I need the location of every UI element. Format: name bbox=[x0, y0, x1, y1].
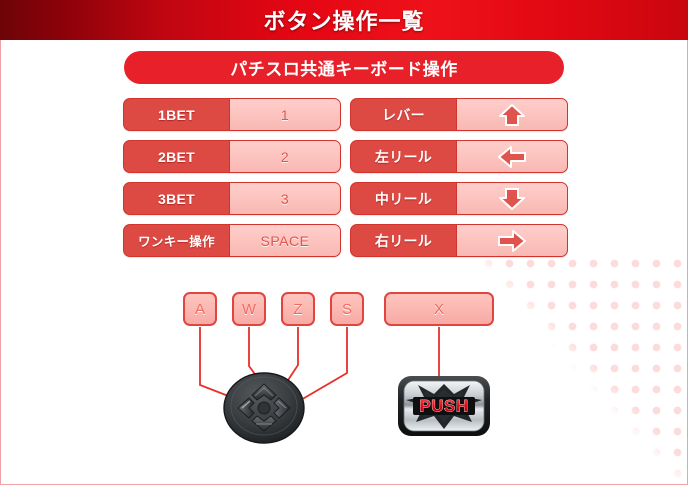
row-value bbox=[456, 225, 567, 256]
arrow-down-icon bbox=[497, 187, 527, 211]
page-header: ボタン操作一覧 bbox=[0, 0, 688, 40]
dpad-center[interactable] bbox=[258, 402, 270, 414]
table-row: ワンキー操作 SPACE bbox=[123, 224, 341, 257]
row-label: ワンキー操作 bbox=[124, 225, 229, 256]
reel-stop-dpad[interactable] bbox=[222, 368, 306, 444]
keycap-x[interactable]: X bbox=[384, 292, 494, 326]
row-label: 右リール bbox=[351, 225, 456, 256]
keycap-w-label: W bbox=[242, 301, 256, 318]
table-row: レバー bbox=[350, 98, 568, 131]
key-mapping-right-column: レバー 左リール 中リール bbox=[350, 98, 568, 266]
arrow-left-icon bbox=[497, 145, 527, 169]
section-subtitle-label: パチスロ共通キーボード操作 bbox=[230, 55, 458, 80]
row-label: 2BET bbox=[124, 141, 229, 172]
keycap-z[interactable]: Z bbox=[281, 292, 315, 326]
table-row: 3BET 3 bbox=[123, 182, 341, 215]
row-value: 2 bbox=[229, 141, 340, 172]
arrow-up-icon bbox=[497, 103, 527, 127]
row-label: 3BET bbox=[124, 183, 229, 214]
keycap-s[interactable]: S bbox=[330, 292, 364, 326]
keycap-w[interactable]: W bbox=[232, 292, 266, 326]
button-guide-page: ボタン操作一覧 パチスロ共通キーボード操作 1BET 1 2BET 2 3BET… bbox=[0, 0, 688, 485]
keycap-a[interactable]: A bbox=[183, 292, 217, 326]
row-value: SPACE bbox=[229, 225, 340, 256]
keycap-x-label: X bbox=[434, 301, 444, 318]
keycap-s-label: S bbox=[342, 301, 352, 318]
keycap-row: A W Z S X bbox=[0, 292, 688, 332]
table-row: 左リール bbox=[350, 140, 568, 173]
row-label: 中リール bbox=[351, 183, 456, 214]
keycap-a-label: A bbox=[195, 301, 205, 318]
row-value: 1 bbox=[229, 99, 340, 130]
row-value bbox=[456, 141, 567, 172]
table-row: 1BET 1 bbox=[123, 98, 341, 131]
row-value bbox=[456, 183, 567, 214]
row-value: 3 bbox=[229, 183, 340, 214]
push-button[interactable]: PUSH bbox=[396, 372, 492, 440]
row-label: 1BET bbox=[124, 99, 229, 130]
polka-dot-decoration bbox=[478, 253, 688, 483]
keycap-z-label: Z bbox=[293, 301, 302, 318]
table-row: 2BET 2 bbox=[123, 140, 341, 173]
arrow-right-icon bbox=[497, 229, 527, 253]
table-row: 中リール bbox=[350, 182, 568, 215]
key-mapping-left-column: 1BET 1 2BET 2 3BET 3 ワンキー操作 SPACE bbox=[123, 98, 341, 266]
page-title: ボタン操作一覧 bbox=[0, 0, 688, 40]
key-mapping-table: 1BET 1 2BET 2 3BET 3 ワンキー操作 SPACE レバー bbox=[0, 98, 688, 264]
push-button-label: PUSH bbox=[419, 397, 468, 416]
row-label: レバー bbox=[351, 99, 456, 130]
row-value bbox=[456, 99, 567, 130]
table-row: 右リール bbox=[350, 224, 568, 257]
row-label: 左リール bbox=[351, 141, 456, 172]
section-subtitle-banner: パチスロ共通キーボード操作 bbox=[124, 51, 564, 84]
